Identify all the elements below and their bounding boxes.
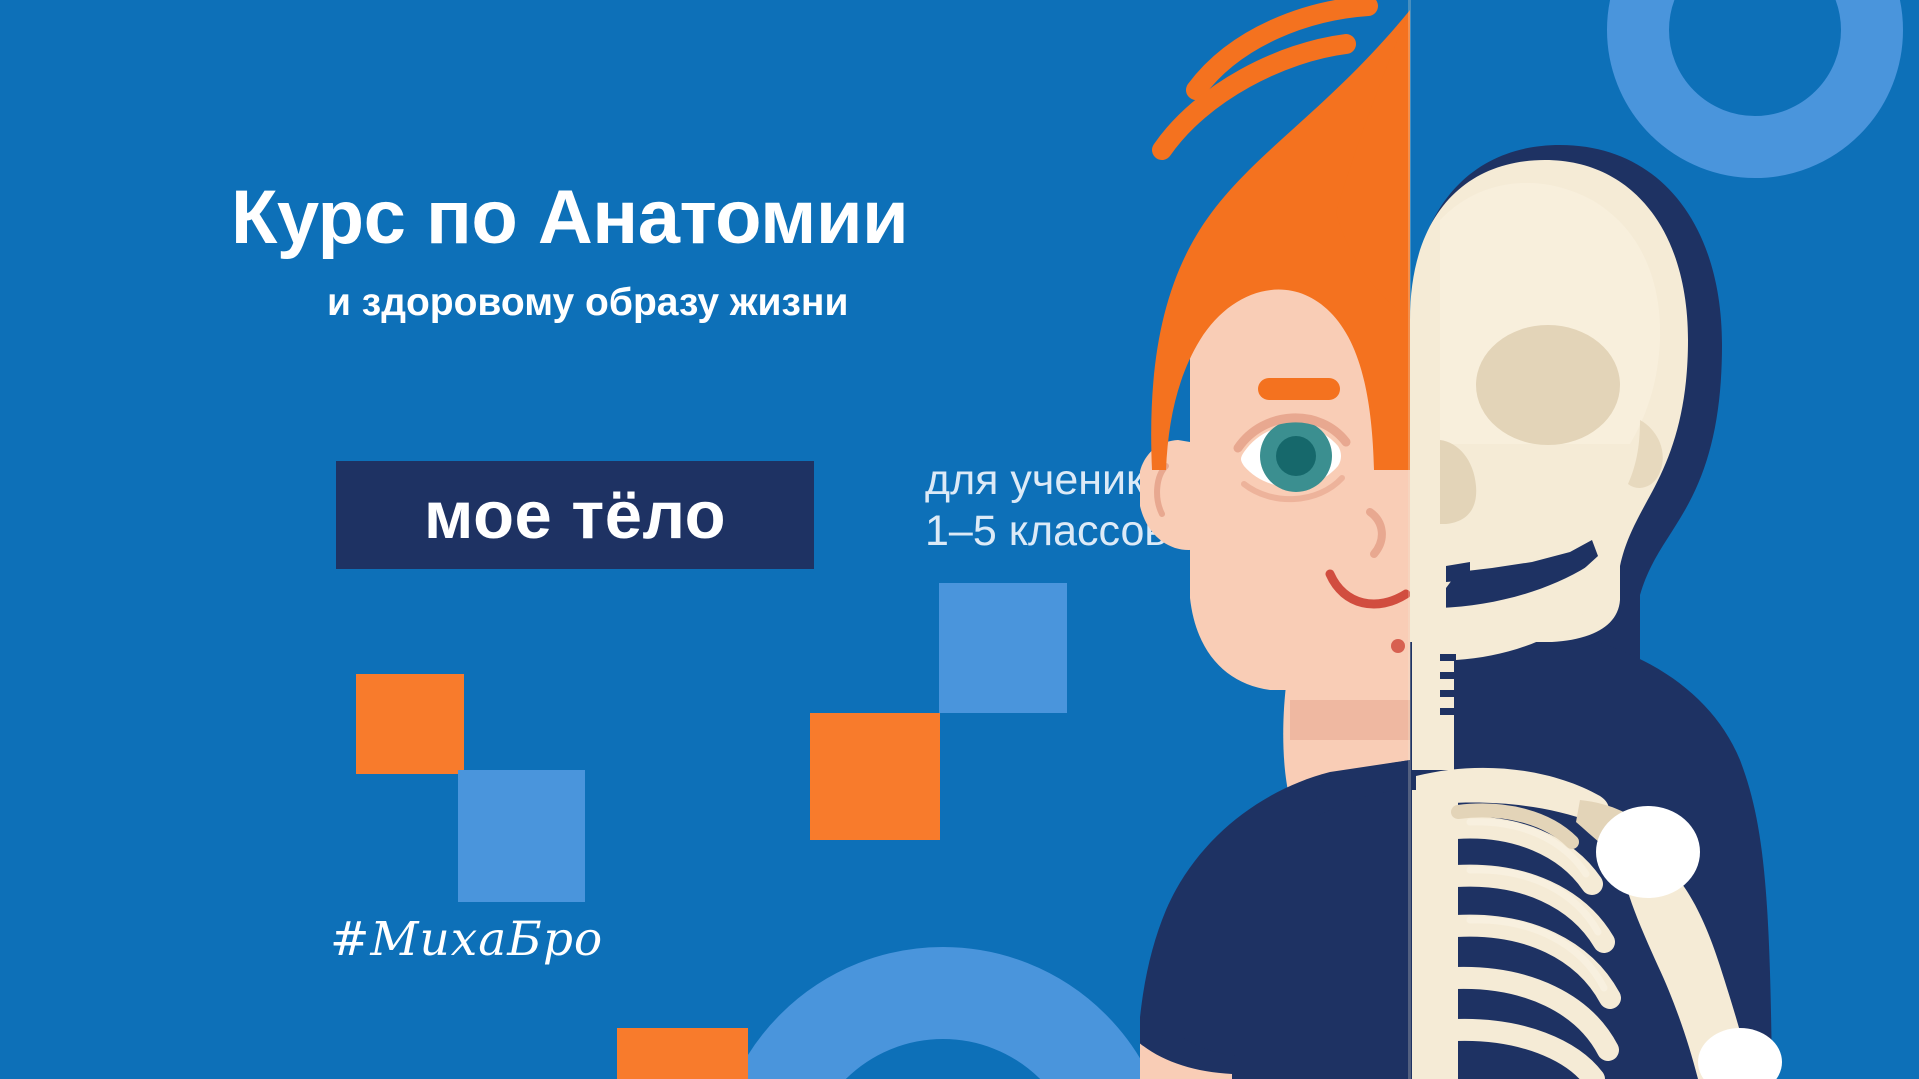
course-badge: мое тёло [336,461,814,569]
blue-square-left-decoration [458,770,585,902]
course-badge-label: мое тёло [424,482,726,549]
blue-square-upper-decoration [939,583,1067,713]
page-subtitle: и здоровому образу жизни [327,283,848,322]
hashtag-label: #МихаБро [330,912,603,967]
ring-bottom-decoration [713,947,1173,1079]
slide-canvas: Курс по Анатомии и здоровому образу жизн… [0,0,1919,1079]
page-title: Курс по Анатомии [231,180,908,256]
boy-half-skeleton-illustration [1140,0,1919,1079]
skeleton-half [1410,145,1782,1079]
orange-square-center-decoration [810,713,940,840]
orange-square-bottom-decoration [617,1028,748,1079]
boy-half [1140,6,1410,1079]
orange-square-top-left-decoration [356,674,464,774]
